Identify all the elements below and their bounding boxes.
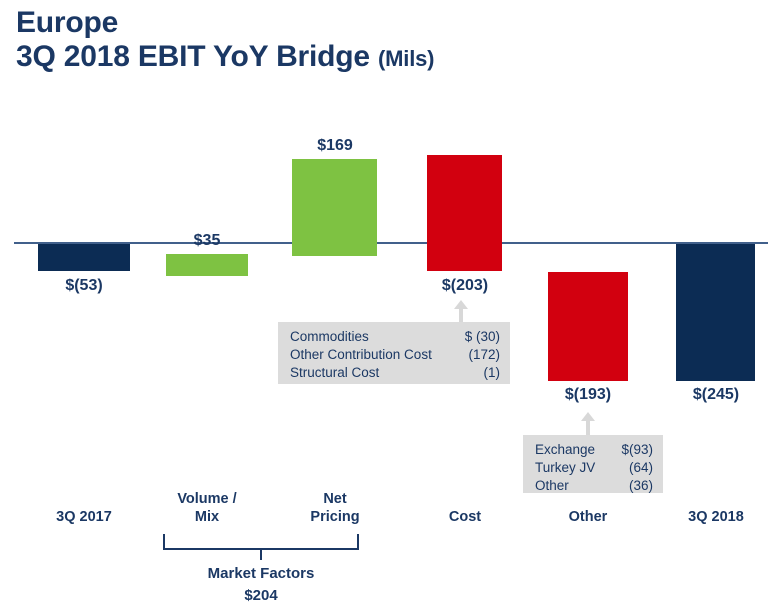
bracket-center-stem — [260, 549, 262, 560]
waterfall-chart: $(53) $35 $169 $(203) $(193) $(245) Comm… — [0, 0, 770, 608]
bracket-right-tick — [357, 534, 359, 549]
market-factors-caption: Market Factors $204 — [161, 563, 361, 607]
market-factors-bracket — [0, 0, 770, 608]
market-factors-value: $204 — [161, 585, 361, 607]
market-factors-title: Market Factors — [161, 563, 361, 585]
bracket-left-tick — [163, 534, 165, 549]
